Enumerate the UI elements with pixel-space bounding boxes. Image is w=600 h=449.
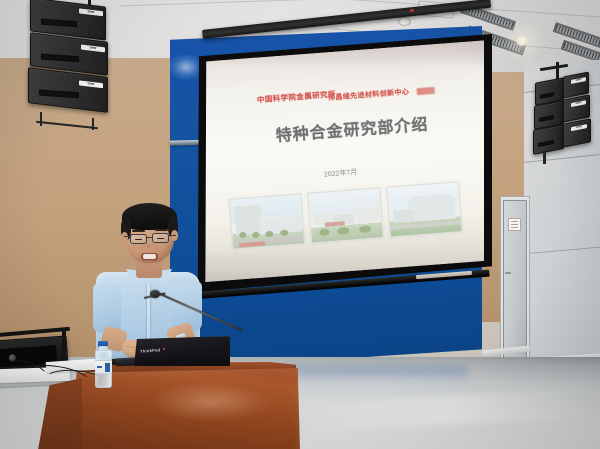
slide-photo-1 [228,193,305,249]
presenter-eyebrow [132,230,145,232]
presenter-nose [147,243,150,248]
ceiling-downlight [516,36,529,46]
microphone-head [150,290,160,298]
podium-sheen [150,382,270,422]
presenter-shirt-button [147,320,149,322]
presenter-eyebrow [155,229,168,231]
slide-logo-icon [417,87,435,95]
slide-photo-2 [307,187,384,243]
presenter-ear [121,232,128,243]
projection-screen-assembly: 中国科学院金属研究所 师昌绪先进材料创新中心 特种合金研究部介绍 2022年7月 [196,30,516,312]
laptop-logo-dot [163,348,165,350]
speaker-support-rod [543,150,546,164]
presenter-shirt-button [147,300,149,302]
slide-org-right: 师昌绪先进材料创新中心 [328,87,410,103]
presentation-photo: 中国科学院金属研究所 师昌绪先进材料创新中心 特种合金研究部介绍 2022年7月 [0,0,600,449]
slide-date: 2022年7月 [324,167,358,180]
speaker-support-rod [40,112,42,126]
eyeglasses-temple [124,236,131,237]
presenter-eye [157,238,164,239]
presenter-eye [135,239,142,240]
slide-title: 特种合金研究部介绍 [275,110,429,146]
screen-surface: 中国科学院金属研究所 师昌绪先进材料创新中心 特种合金研究部介绍 2022年7月 [204,40,484,284]
podium-shadow [92,356,212,370]
slide-content: 中国科学院金属研究所 师昌绪先进材料创新中心 特种合金研究部介绍 2022年7月 [204,40,484,284]
ceiling-speaker-icon [398,17,411,26]
screen-case-indicator [410,9,414,12]
eyeglasses-temple [169,235,176,236]
presenter-sleeve-left [93,283,121,333]
presenter-chin-shadow [138,258,162,267]
slide-photo-3 [386,181,463,237]
slide-org-left: 中国科学院金属研究所 [257,88,337,105]
eyeglasses-bridge [147,237,152,238]
